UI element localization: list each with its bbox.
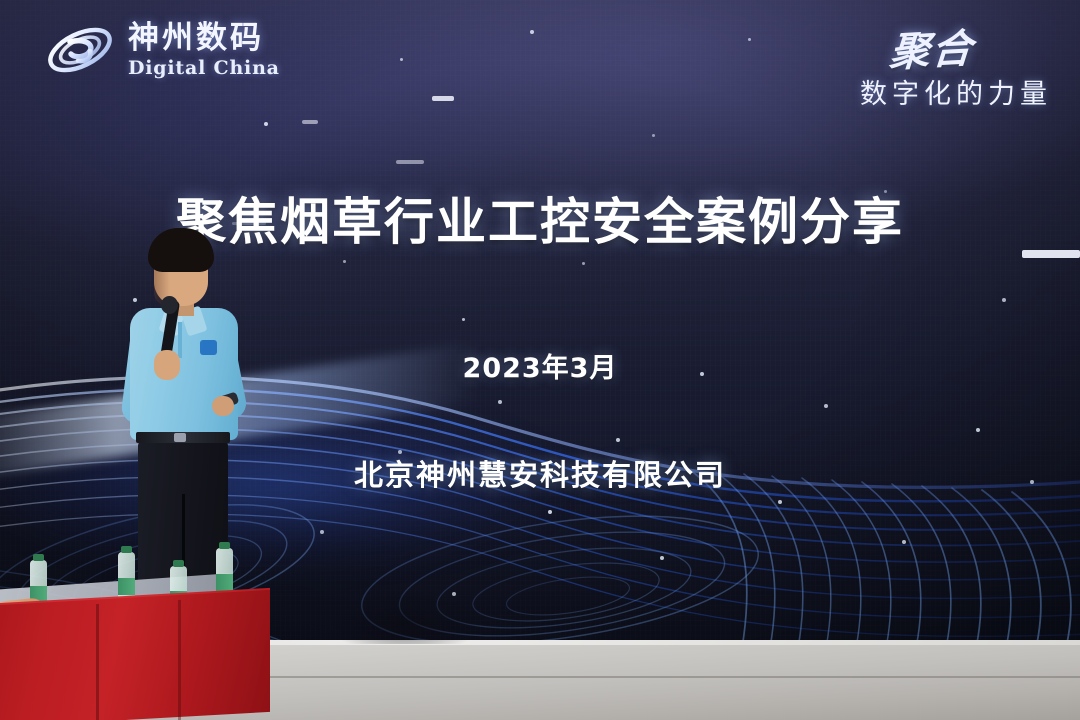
bottle-cap [33, 554, 44, 561]
speaker-shirt-placket [178, 322, 182, 358]
floor-shadow [330, 592, 480, 644]
bottle-label [216, 574, 233, 591]
campaign-slogan: 聚合 数字化的力量 [860, 18, 1052, 111]
speaker-polo-shirt [130, 308, 238, 440]
digital-china-logo: 神州数码 Digital China [44, 18, 280, 82]
drape-fold [96, 604, 99, 720]
slogan-brush-title: 聚合 [888, 16, 977, 78]
speaker-belt-buckle [174, 433, 186, 442]
bottle-cap [121, 546, 132, 553]
bottle-cap [173, 560, 184, 567]
conference-stage-photo: 神州数码 Digital China 聚合 数字化的力量 聚焦烟草行业工控安全案… [0, 0, 1080, 720]
microphone-head [161, 296, 178, 314]
speaker-hand-holding-clicker [212, 396, 234, 416]
speaker-chest-logo-icon [200, 340, 217, 355]
speaker-hand-holding-mic [154, 350, 180, 380]
galaxy-swirl-icon [44, 18, 116, 82]
drape-fold [178, 600, 181, 720]
table-red-drape [0, 590, 270, 720]
bottle-cap [219, 542, 230, 549]
speaker-hair [148, 228, 214, 272]
logo-name-cn: 神州数码 [128, 23, 280, 54]
bottle-label [118, 578, 135, 595]
logo-name-en: Digital China [128, 59, 280, 78]
